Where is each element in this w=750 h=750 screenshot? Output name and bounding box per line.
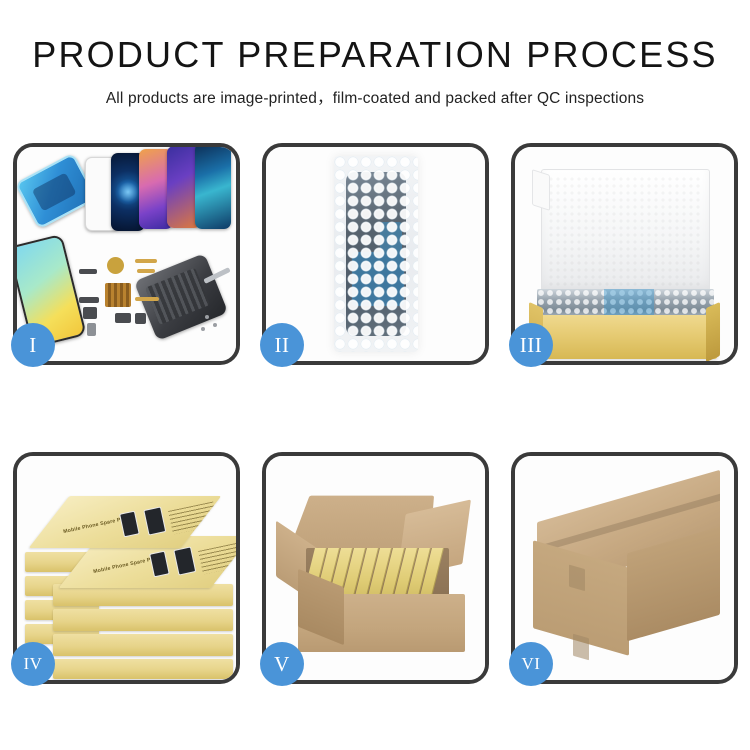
sealed-shipping-carton [531, 496, 720, 648]
step-badge-1: I [11, 323, 55, 367]
spare-part-circuit-board [105, 283, 131, 307]
retail-box-spec-lines-2 [198, 541, 236, 574]
step-badge-6: VI [509, 642, 553, 686]
retail-box-phone-graphic-2a [149, 551, 170, 578]
spare-part-vibrator [135, 313, 146, 324]
process-step-panel-2[interactable]: II [262, 143, 489, 365]
retail-box-side-3 [53, 634, 233, 656]
step-badge-5: V [260, 642, 304, 686]
retail-box-stack: Mobile Phone Spare Parts Mobile Phone Sp… [25, 482, 226, 662]
process-step-panel-5[interactable]: V [262, 452, 489, 684]
spare-part-camera-coil [107, 257, 124, 274]
retail-box-phone-graphic-1a [119, 511, 140, 538]
process-step-panel-4[interactable]: Mobile Phone Spare Parts Mobile Phone Sp… [13, 452, 240, 684]
page-header: PRODUCT PREPARATION PROCESS All products… [0, 0, 750, 108]
panel-6-image [515, 456, 734, 680]
spare-part-bracket-2 [83, 307, 97, 319]
process-step-panel-3[interactable]: III [511, 143, 738, 365]
spare-part-screw-1 [205, 315, 209, 319]
retail-box-phone-graphic-1b [143, 506, 166, 535]
phone-screen-teal [195, 147, 231, 229]
bubble-highlight-texture [334, 156, 418, 352]
spare-part-bracket-1 [79, 297, 99, 303]
panel-1-image [17, 147, 236, 361]
carton-body [298, 594, 465, 652]
bubble-wrap-package [334, 156, 418, 352]
retail-box-side-2 [53, 609, 233, 631]
panel-2-image [266, 147, 485, 361]
phone-parts-scene [17, 147, 236, 361]
retail-box-spec-lines-1 [168, 501, 218, 534]
panel-5-image [266, 456, 485, 680]
open-kraft-box [531, 169, 718, 323]
spare-part-flex-cable-2 [137, 269, 155, 273]
step-badge-2: II [260, 323, 304, 367]
spare-part-screw-3 [201, 327, 205, 331]
step-badge-4: IV [11, 642, 55, 686]
panel-3-image [515, 147, 734, 361]
page-title: PRODUCT PREPARATION PROCESS [0, 0, 750, 74]
spare-part-button [87, 323, 96, 336]
carton-tape-tab-lower [573, 634, 589, 661]
open-shipping-carton [278, 492, 473, 652]
kraft-box-tray [531, 315, 718, 359]
process-step-grid: I II III [13, 143, 738, 684]
retail-box-side-4 [53, 659, 233, 679]
spare-part-flex-cable-1 [135, 259, 157, 263]
retail-box-phone-graphic-2b [173, 546, 196, 575]
process-step-panel-1[interactable]: I [13, 143, 240, 365]
spare-part-screw-2 [213, 323, 217, 327]
spare-part-speaker [115, 313, 131, 323]
page-subtitle: All products are image-printed，film-coat… [0, 74, 750, 108]
panel-4-image: Mobile Phone Spare Parts Mobile Phone Sp… [17, 456, 236, 680]
carton-tape-tab-upper [569, 565, 585, 592]
white-foam-lid [541, 169, 710, 293]
process-step-panel-6[interactable]: VI [511, 452, 738, 684]
step-badge-3: III [509, 323, 553, 367]
spare-part-connector [79, 269, 97, 274]
spare-part-flex-cable-3 [135, 297, 159, 301]
